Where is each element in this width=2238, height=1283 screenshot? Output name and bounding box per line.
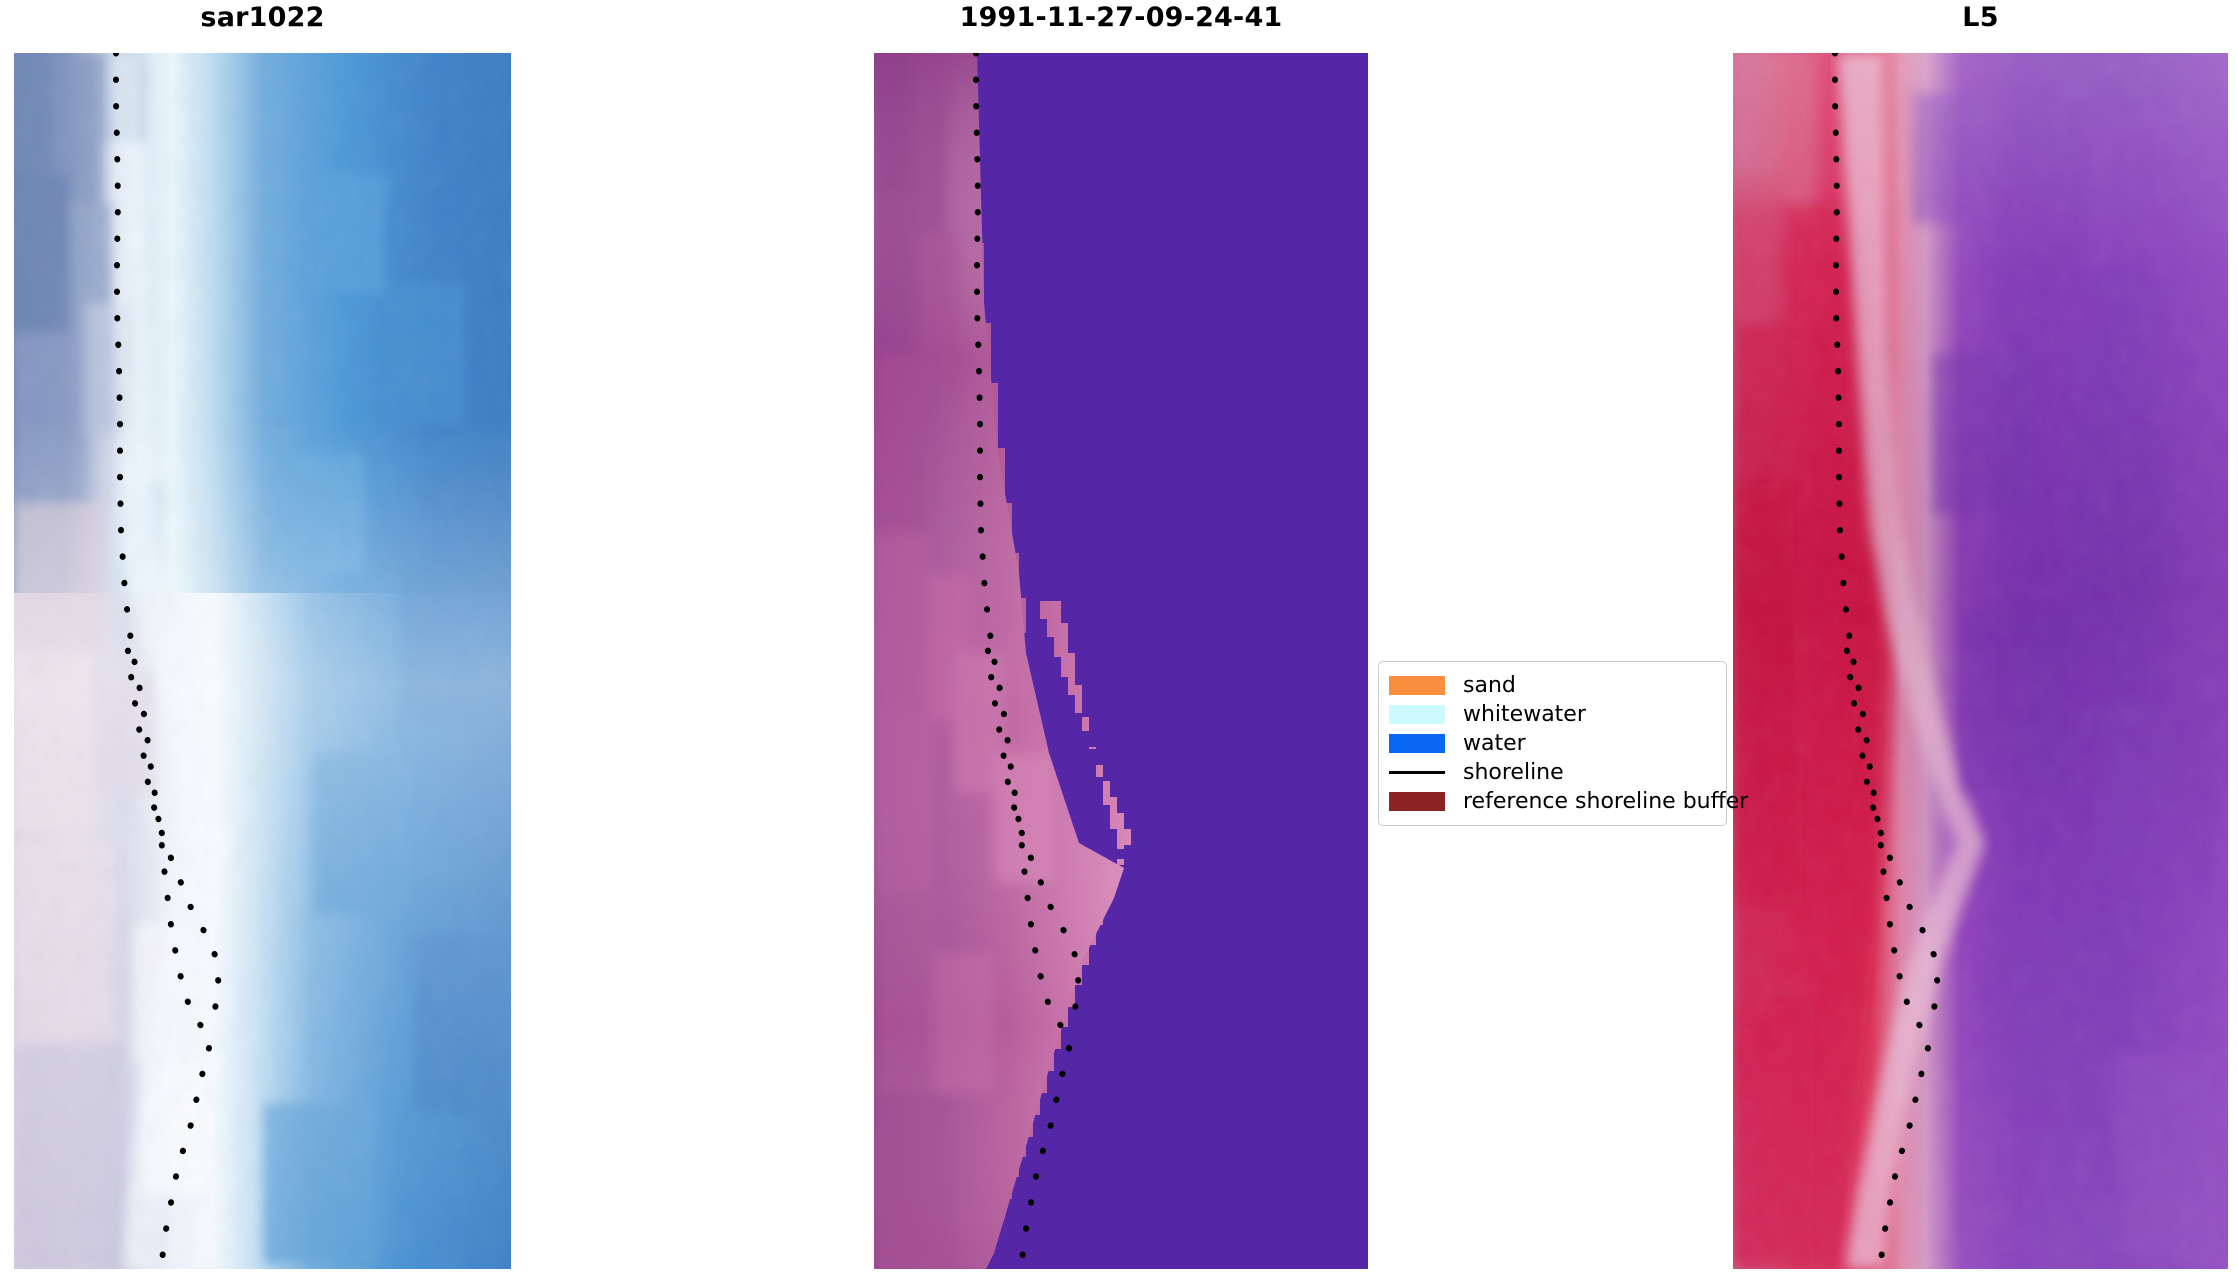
legend-item-whitewater: whitewater [1389, 700, 1716, 729]
panel-title-classified: 1991-11-27-09-24-41 [874, 2, 1368, 33]
reference-shoreline-buffer-swatch-icon [1389, 792, 1445, 811]
sar-image [14, 53, 511, 1269]
legend-swatch-wrap-sand [1389, 676, 1453, 695]
whitewater-swatch-icon [1389, 705, 1445, 724]
legend-swatch-wrap-reference-buffer [1389, 792, 1453, 811]
sand-swatch-icon [1389, 676, 1445, 695]
legend-swatch-wrap-water [1389, 734, 1453, 753]
legend-item-sand: sand [1389, 671, 1716, 700]
water-swatch-icon [1389, 734, 1445, 753]
classified-image [874, 53, 1368, 1269]
figure-canvas: sar1022 [0, 0, 2238, 1283]
legend-swatch-wrap-shoreline [1389, 771, 1453, 774]
legend-label-whitewater: whitewater [1453, 704, 1586, 726]
legend-item-water: water [1389, 729, 1716, 758]
legend-item-reference-shoreline-buffer: reference shoreline buffer [1389, 787, 1716, 816]
legend-label-reference-shoreline-buffer: reference shoreline buffer [1453, 791, 1748, 813]
legend-item-shoreline: shoreline [1389, 758, 1716, 787]
l5-image [1733, 53, 2228, 1269]
shoreline-line-icon [1389, 771, 1445, 774]
panel-classified[interactable] [874, 53, 1368, 1269]
legend-label-sand: sand [1453, 675, 1516, 697]
panel-sar[interactable] [14, 53, 511, 1269]
panel-title-l5: L5 [1733, 2, 2228, 33]
legend-swatch-wrap-whitewater [1389, 705, 1453, 724]
panel-title-sar: sar1022 [14, 2, 511, 33]
panel-l5[interactable] [1733, 53, 2228, 1269]
legend: sand whitewater water shoreline referenc [1378, 661, 1727, 826]
legend-label-shoreline: shoreline [1453, 762, 1564, 784]
legend-label-water: water [1453, 733, 1526, 755]
